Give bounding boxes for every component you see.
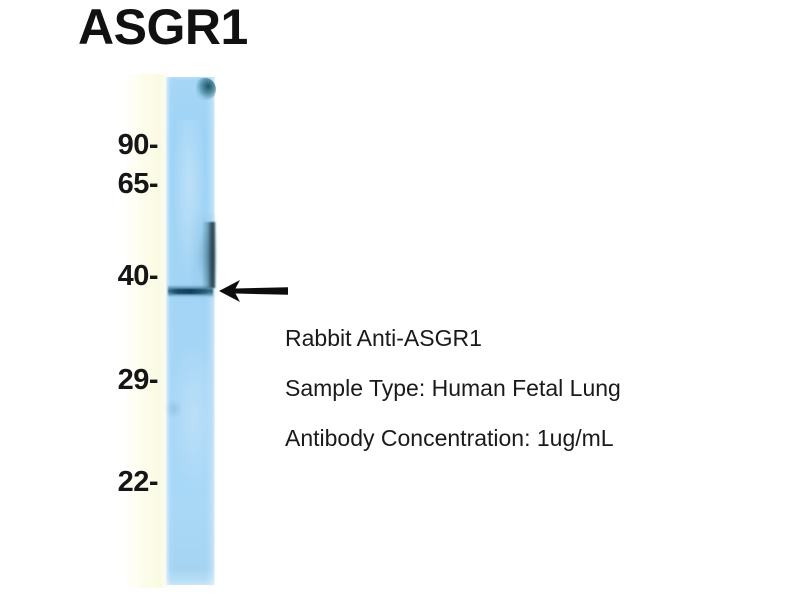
mw-marker-90: 90- [0,131,158,161]
mw-marker-40: 40- [0,262,158,292]
mw-marker-22: 22- [0,468,158,498]
well-artifact-spot [196,78,216,100]
annotation-antibody: Rabbit Anti-ASGR1 [285,327,482,350]
faint-lane-smudge [166,400,182,418]
annotation-sample-type: Sample Type: Human Fetal Lung [285,377,621,400]
target-band [171,289,209,294]
western-blot-figure: ASGR1 90- 65- 40- 29- 22- Rabbit Anti-AS… [0,0,800,600]
left-arrow-icon [216,274,290,308]
mw-marker-65: 65- [0,170,158,200]
mw-marker-40-label: 40- [118,262,158,291]
mw-marker-65-label: 65- [118,170,158,199]
mw-marker-90-label: 90- [118,131,158,160]
annotation-antibody-concentration: Antibody Concentration: 1ug/mL [285,427,614,450]
mw-marker-29: 29- [0,366,158,396]
mw-marker-29-label: 29- [118,366,158,395]
nonspecific-band-streak [202,222,216,288]
mw-marker-22-label: 22- [118,468,158,497]
page-title: ASGR1 [78,2,248,52]
